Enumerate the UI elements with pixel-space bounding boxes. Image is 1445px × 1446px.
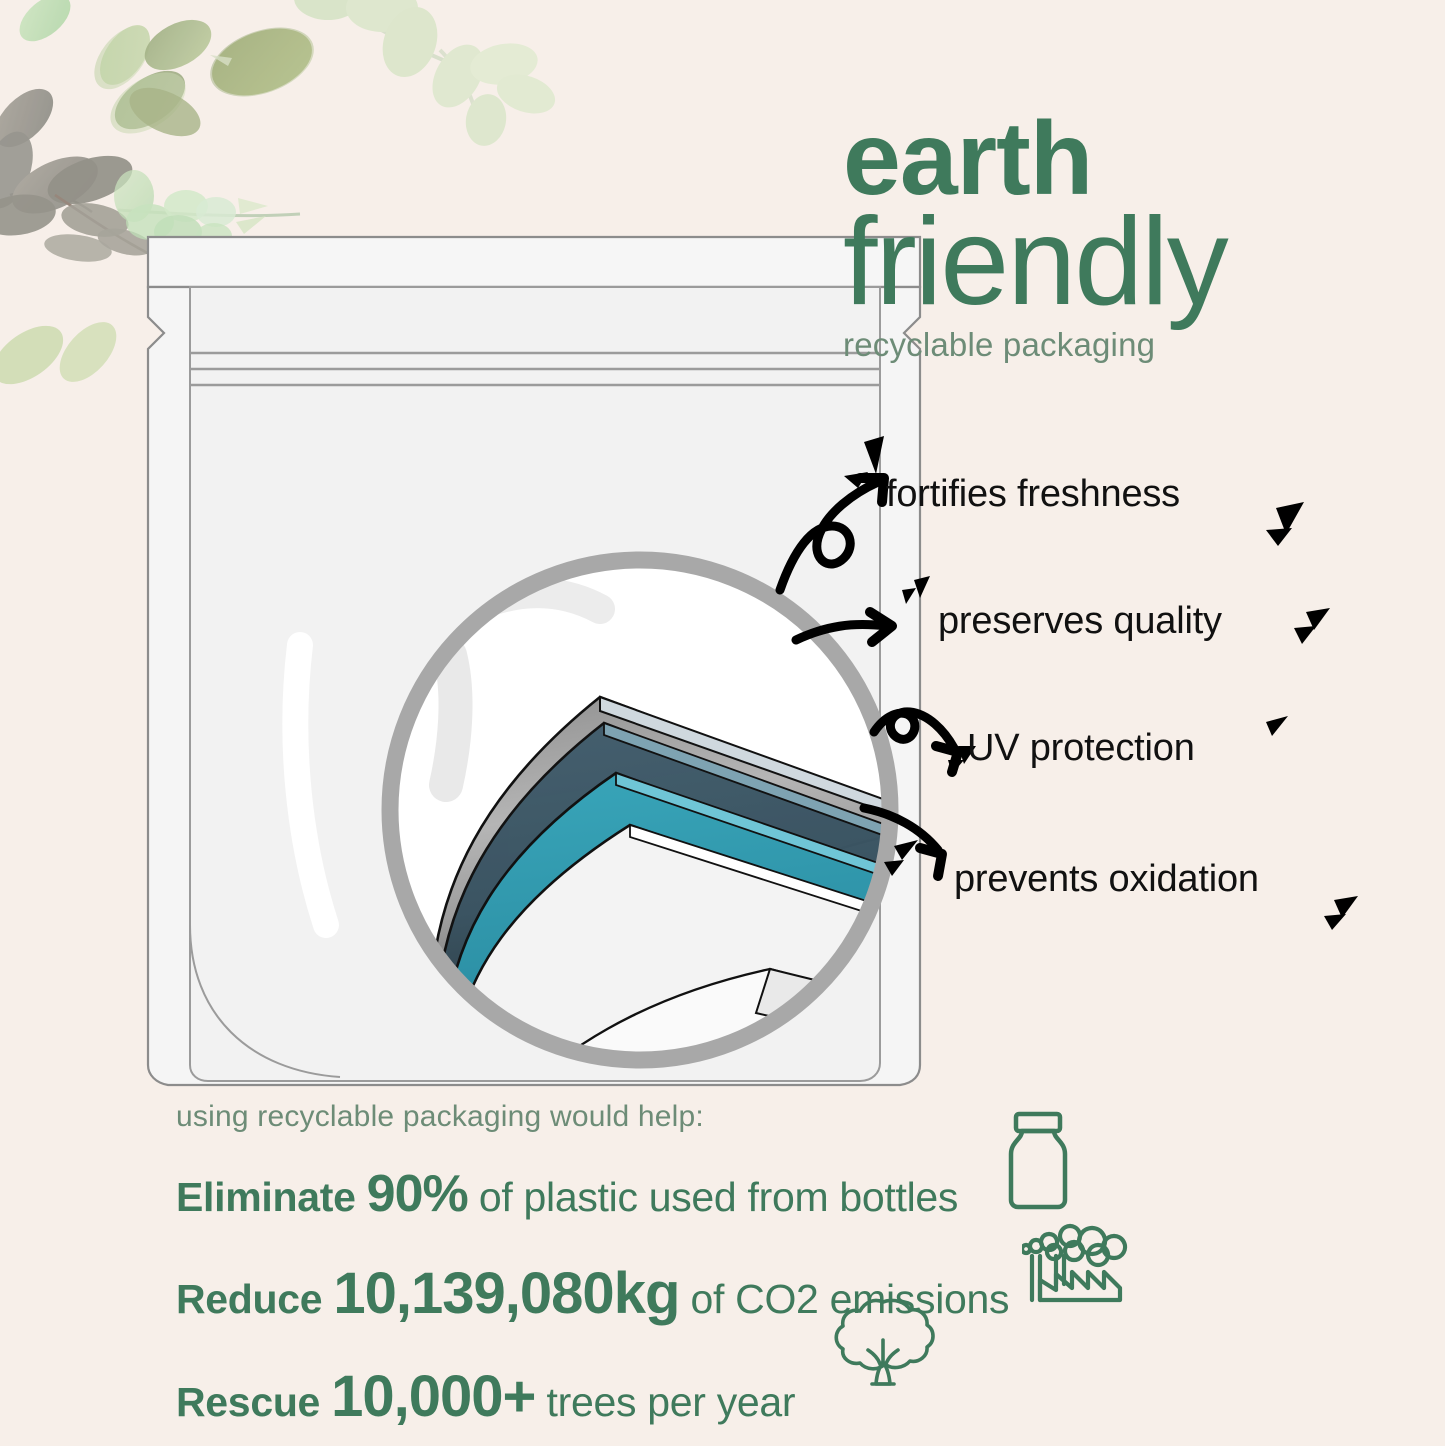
stat-lead: Rescue (176, 1379, 331, 1425)
stat-row-rescue: Rescue 10,000+ trees per year (176, 1363, 1276, 1430)
headline-subtitle: recyclable packaging (843, 326, 1403, 364)
leaf-decoration-top-right (290, 0, 630, 210)
stat-lead: Reduce (176, 1276, 333, 1322)
feature-label-preserves-quality: preserves quality (938, 600, 1222, 643)
headline-line-2: friendly (843, 204, 1403, 321)
stat-value: 10,139,080kg (333, 1261, 679, 1326)
stat-value: 10,000+ (331, 1364, 535, 1429)
infographic-canvas: earth friendly recyclable packaging fort… (0, 0, 1445, 1446)
feature-label-fortifies-freshness: fortifies freshness (886, 473, 1180, 516)
stats-intro-text: using recyclable packaging would help: (176, 1100, 1276, 1134)
stat-tail: of plastic used from bottles (468, 1174, 958, 1220)
feature-label-uv-protection: UV protection (967, 727, 1195, 770)
headline-block: earth friendly recyclable packaging (843, 112, 1403, 364)
stat-tail: trees per year (535, 1379, 795, 1425)
factory-icon (1022, 1212, 1134, 1304)
stat-value: 90% (367, 1165, 468, 1223)
stat-lead: Eliminate (176, 1174, 367, 1220)
feature-label-prevents-oxidation: prevents oxidation (954, 858, 1259, 901)
tree-icon (828, 1292, 938, 1400)
bottle-icon (995, 1108, 1081, 1212)
